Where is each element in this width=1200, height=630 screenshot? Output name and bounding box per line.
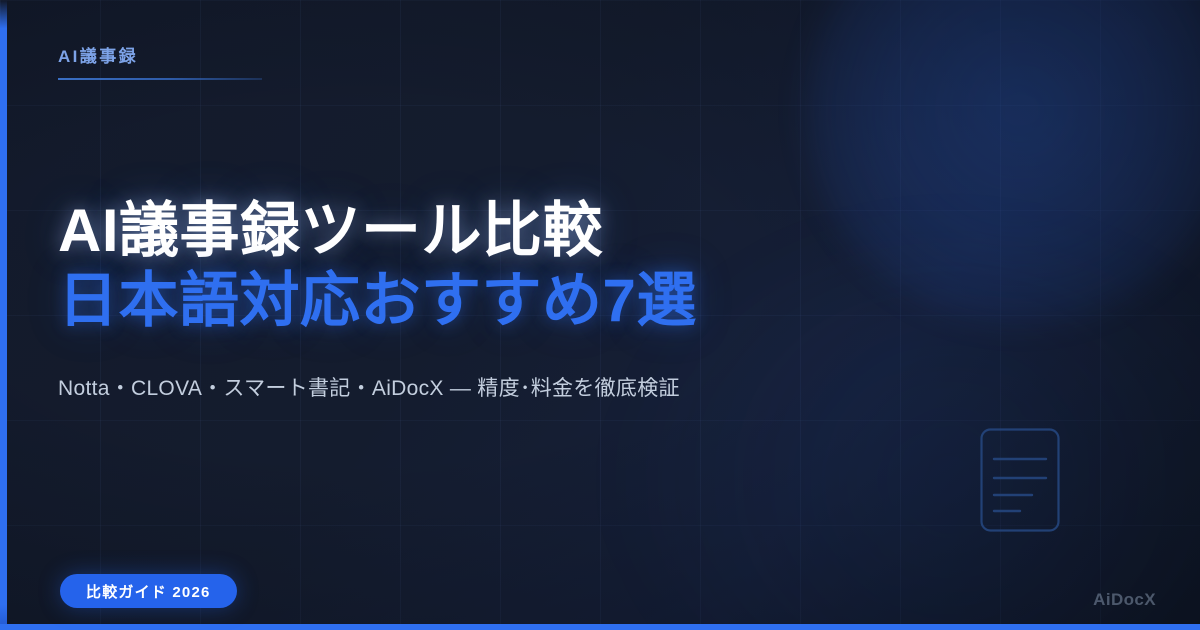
- eyebrow-divider: [58, 78, 262, 80]
- page-title: AI議事録ツール比較 日本語対応おすすめ7選: [58, 196, 958, 335]
- title-line-1: AI議事録ツール比較: [58, 196, 958, 266]
- status-badge-label: 比較ガイド 2026: [86, 581, 211, 602]
- bottom-accent-bar: [0, 624, 1200, 630]
- document-icon: [980, 428, 1060, 532]
- og-card: AI議事録 AI議事録ツール比較 日本語対応おすすめ7選 Notta・CLOVA…: [0, 0, 1200, 630]
- brand-watermark: AiDocX: [1093, 590, 1156, 610]
- title-line-2: 日本語対応おすすめ7選: [58, 266, 958, 336]
- status-badge: 比較ガイド 2026: [60, 574, 237, 608]
- subtitle: Notta・CLOVA・スマート書記・AiDocX — 精度･料金を徹底検証: [58, 372, 680, 402]
- eyebrow: AI議事録: [58, 48, 478, 80]
- left-accent-bar: [0, 0, 7, 630]
- eyebrow-label: AI議事録: [58, 48, 478, 65]
